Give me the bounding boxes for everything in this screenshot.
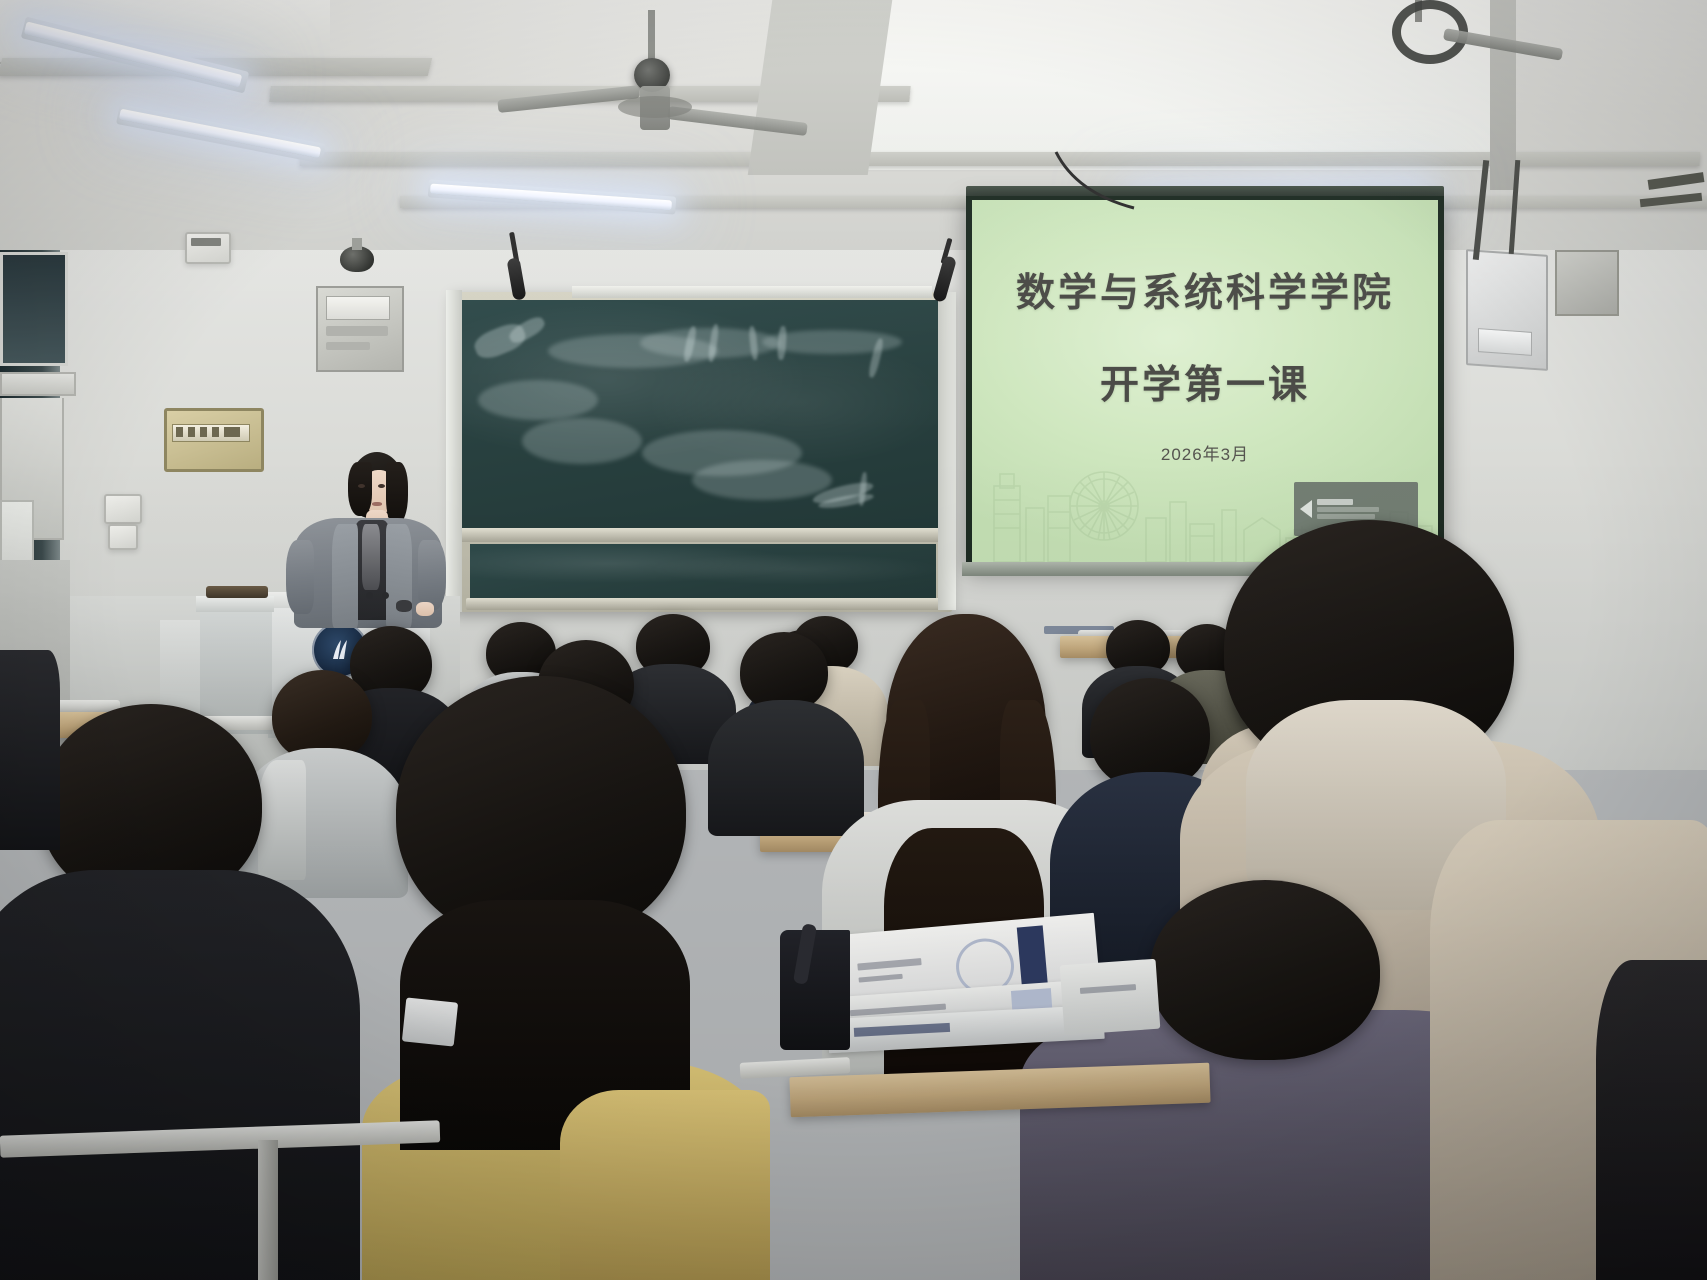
lecturer-eye-right: [378, 484, 385, 488]
wall-box-label: [191, 238, 221, 246]
shoulder-bag: [780, 930, 850, 1050]
chalkboard-right-post: [938, 292, 956, 610]
chalk-mark-11: [478, 380, 598, 420]
student-left-edge-body: [0, 650, 60, 850]
overlay-line-3: [1317, 514, 1375, 519]
paper-left: [402, 997, 458, 1046]
control-panel-slot-1: [326, 326, 388, 336]
textbook-bottom-title: [854, 1023, 950, 1037]
chalk-mark-12: [522, 418, 642, 464]
student-front-4-head: [1150, 880, 1380, 1060]
breaker-switch-5: [224, 427, 240, 437]
slide-title-line-2: 开学第一课: [972, 354, 1438, 410]
chalk-tray-lower: [466, 598, 940, 610]
lecturer-scarf: [362, 524, 380, 590]
overlay-line-1: [1317, 499, 1353, 505]
chalk-mark-14: [692, 460, 832, 500]
lecturer-hand-left: [396, 600, 412, 612]
projection-screen: 数学与系统科学学院 开学第一课 2026年3月: [972, 200, 1438, 562]
lecturer-mouth: [372, 502, 382, 506]
chalkboard-left-post: [446, 290, 462, 612]
chalkboard-lower: [470, 544, 936, 600]
student-front-1-body: [0, 870, 360, 1280]
chalkboard-top-bar: [572, 286, 932, 298]
lecturer-hand-right: [416, 602, 434, 616]
lecturer-button-2: [382, 592, 389, 599]
wall-socket-2: [108, 524, 138, 550]
breaker-switch-3: [200, 427, 207, 437]
classroom-photo: 数学与系统科学学院 开学第一课 2026年3月: [0, 0, 1707, 1280]
fan-rod-1: [648, 10, 655, 62]
control-panel-display: [326, 296, 390, 320]
screen-cable: [1050, 150, 1140, 220]
textbook-top-title: [857, 958, 921, 971]
lecturer-arm-left: [286, 540, 314, 614]
chalk-mark-2: [507, 314, 548, 347]
breaker-switch-4: [212, 427, 219, 437]
lecturer-lapel-left: [332, 524, 358, 628]
slide-date: 2026年3月: [972, 440, 1438, 465]
ceiling-duct: [1490, 0, 1516, 190]
breaker-switch-2: [188, 427, 195, 437]
student-front-2-hood: [560, 1090, 770, 1280]
camera-mount: [352, 238, 362, 250]
speaker-grille: [1478, 328, 1532, 356]
chalk-tray-upper: [456, 528, 948, 542]
student-mid-1-hood: [258, 760, 306, 880]
overlay-text-lines: [1317, 499, 1379, 519]
lecturer-hair-left: [348, 462, 372, 516]
left-shelf-1: [0, 372, 76, 396]
student-mid-3-body: [708, 700, 864, 836]
desk-leg-foreground: [258, 1140, 278, 1280]
lecturer-eye-left: [358, 484, 365, 488]
left-window: [0, 252, 68, 366]
ceiling-beam-vertical: [748, 0, 893, 175]
breaker-switch-1: [176, 427, 183, 437]
podium-side-top: [196, 596, 274, 612]
slide-title-line-1: 数学与系统科学学院: [972, 262, 1438, 318]
textbook-top-subtitle: [859, 974, 903, 983]
lecturer-button-1: [366, 592, 373, 599]
wall-socket-1: [104, 494, 142, 524]
fan-blur-1: [618, 96, 692, 118]
lecturer-hair-right: [386, 462, 408, 524]
control-panel-slot-2: [326, 342, 370, 350]
podium-object: [206, 586, 268, 598]
wall-cable-box: [1555, 250, 1619, 316]
wall-box-small: [185, 232, 231, 264]
notebook-right: [1060, 959, 1161, 1036]
play-triangle-left-icon[interactable]: [1300, 500, 1312, 518]
chalkboard-upper: [462, 300, 942, 528]
lecturer-arm-right: [418, 540, 446, 610]
overlay-line-2: [1317, 507, 1379, 512]
lecturer-lapel-right: [386, 524, 412, 628]
student-right-edge-body: [1596, 960, 1707, 1280]
